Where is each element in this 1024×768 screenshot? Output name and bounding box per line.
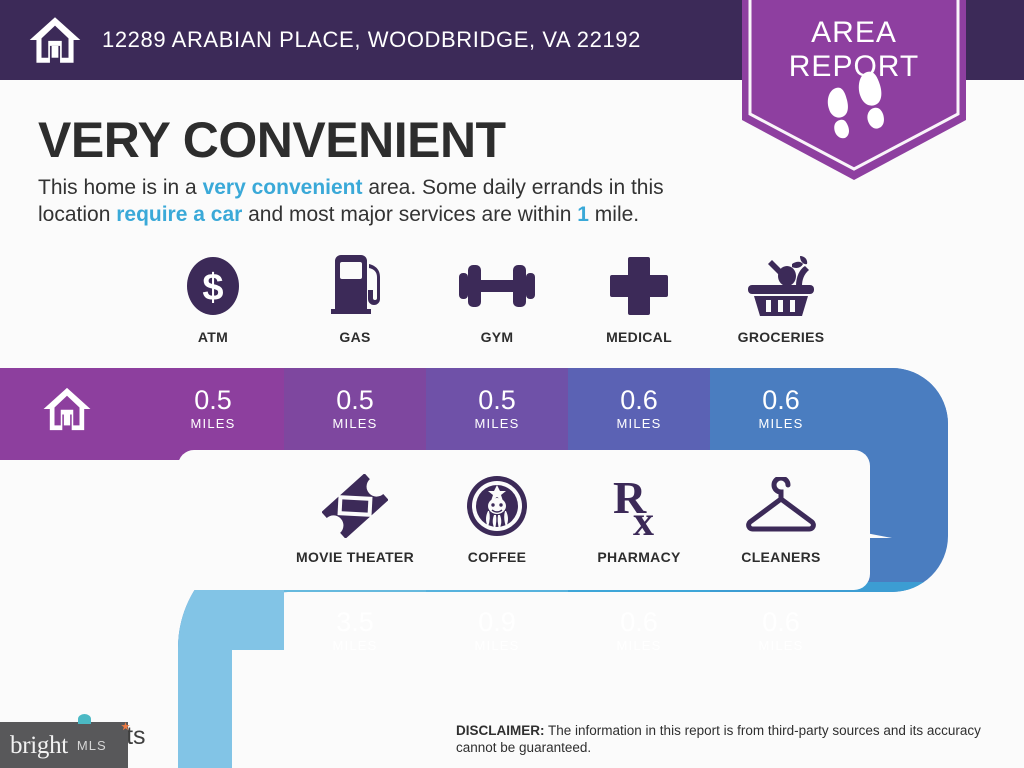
distance-cell-pharmacy: 0.6 MILES <box>568 594 710 666</box>
poi-movie-theater[interactable]: MOVIE THEATER <box>284 472 426 565</box>
groceries-icon <box>746 252 816 320</box>
distance-unit: MILES <box>474 416 519 431</box>
svg-text:$: $ <box>202 267 223 309</box>
distance-cell-medical: 0.6 MILES <box>568 372 710 444</box>
distance-value: 0.9 <box>478 608 516 637</box>
poi-pharmacy[interactable]: R x PHARMACY <box>568 472 710 565</box>
distance-labels-row-2: 3.5 MILES 0.9 MILES 0.6 MILES 0.6 MILES <box>284 594 852 666</box>
description-highlight: very convenient <box>203 176 363 199</box>
area-report-badge: AREA REPORT <box>728 0 980 180</box>
distance-cell-groceries: 0.6 MILES <box>710 372 852 444</box>
distance-unit: MILES <box>616 638 661 653</box>
home-icon <box>28 13 82 67</box>
badge-shape <box>728 0 980 180</box>
atm-icon: $ <box>185 252 241 320</box>
poi-label: ATM <box>198 329 228 345</box>
disclaimer-label: DISCLAIMER: <box>456 723 545 738</box>
distance-value: 0.6 <box>620 608 658 637</box>
distance-cell-gym: 0.5 MILES <box>426 372 568 444</box>
gas-icon <box>327 252 383 320</box>
distance-unit: MILES <box>758 416 803 431</box>
description-text: mile. <box>589 203 639 226</box>
page-description: This home is in a very convenient area. … <box>38 174 738 228</box>
poi-label: PHARMACY <box>597 549 680 565</box>
medical-icon <box>610 252 668 320</box>
disclaimer: DISCLAIMER: The information in this repo… <box>456 722 1004 756</box>
poi-medical[interactable]: MEDICAL <box>568 252 710 345</box>
poi-label: MOVIE THEATER <box>296 549 414 565</box>
distance-value: 0.5 <box>336 386 374 415</box>
distance-value: 0.6 <box>620 386 658 415</box>
distance-value: 0.5 <box>194 386 232 415</box>
poi-gas[interactable]: GAS <box>284 252 426 345</box>
coffee-icon <box>466 472 528 540</box>
poi-coffee[interactable]: COFFEE <box>426 472 568 565</box>
ticket-icon <box>322 472 388 540</box>
description-text: This home is in a <box>38 176 203 199</box>
hanger-icon <box>744 472 818 540</box>
distance-unit: MILES <box>616 416 661 431</box>
distance-cell-movie-theater: 3.5 MILES <box>284 594 426 666</box>
distance-labels-row-1: 0.5 MILES 0.5 MILES 0.5 MILES 0.6 MILES … <box>142 372 852 444</box>
ribbon-home-icon <box>42 386 92 432</box>
distance-value: 0.6 <box>762 386 800 415</box>
poi-atm[interactable]: $ ATM <box>142 252 284 345</box>
icon-row-1: $ ATM GAS <box>142 252 852 345</box>
distance-unit: MILES <box>190 416 235 431</box>
distance-unit: MILES <box>332 416 377 431</box>
distance-value: 0.6 <box>762 608 800 637</box>
bright-mls-suffix: MLS <box>77 738 107 753</box>
distance-cell-coffee: 0.9 MILES <box>426 594 568 666</box>
description-text: and most major services are within <box>242 203 577 226</box>
bright-mls-teal-dot <box>78 714 91 724</box>
page-title: VERY CONVENIENT <box>38 112 506 168</box>
svg-text:x: x <box>633 499 654 539</box>
poi-label: GYM <box>481 329 514 345</box>
description-highlight: require a car <box>116 203 242 226</box>
area-report-page: 12289 ARABIAN PLACE, WOODBRIDGE, VA 2219… <box>0 0 1024 768</box>
poi-label: CLEANERS <box>741 549 820 565</box>
description-highlight: 1 <box>577 203 589 226</box>
poi-cleaners[interactable]: CLEANERS <box>710 472 852 565</box>
poi-label: GROCERIES <box>738 329 825 345</box>
poi-label: MEDICAL <box>606 329 672 345</box>
bright-mls-wordmark: bright <box>10 733 68 758</box>
distance-unit: MILES <box>758 638 803 653</box>
poi-groceries[interactable]: GROCERIES <box>710 252 852 345</box>
distance-cell-gas: 0.5 MILES <box>284 372 426 444</box>
poi-label: GAS <box>339 329 370 345</box>
distance-unit: MILES <box>474 638 519 653</box>
poi-gym[interactable]: GYM <box>426 252 568 345</box>
property-address: 12289 ARABIAN PLACE, WOODBRIDGE, VA 2219… <box>102 27 641 53</box>
icon-row-2: MOVIE THEATER COFFE <box>284 472 852 565</box>
bright-mls-logo: bright MLS <box>0 722 128 768</box>
poi-label: COFFEE <box>468 549 527 565</box>
distance-value: 0.5 <box>478 386 516 415</box>
gym-icon <box>459 252 535 320</box>
distance-cell-cleaners: 0.6 MILES <box>710 594 852 666</box>
distance-value: 3.5 <box>336 608 374 637</box>
distance-cell-atm: 0.5 MILES <box>142 372 284 444</box>
distance-unit: MILES <box>332 638 377 653</box>
pharmacy-icon: R x <box>611 472 667 540</box>
